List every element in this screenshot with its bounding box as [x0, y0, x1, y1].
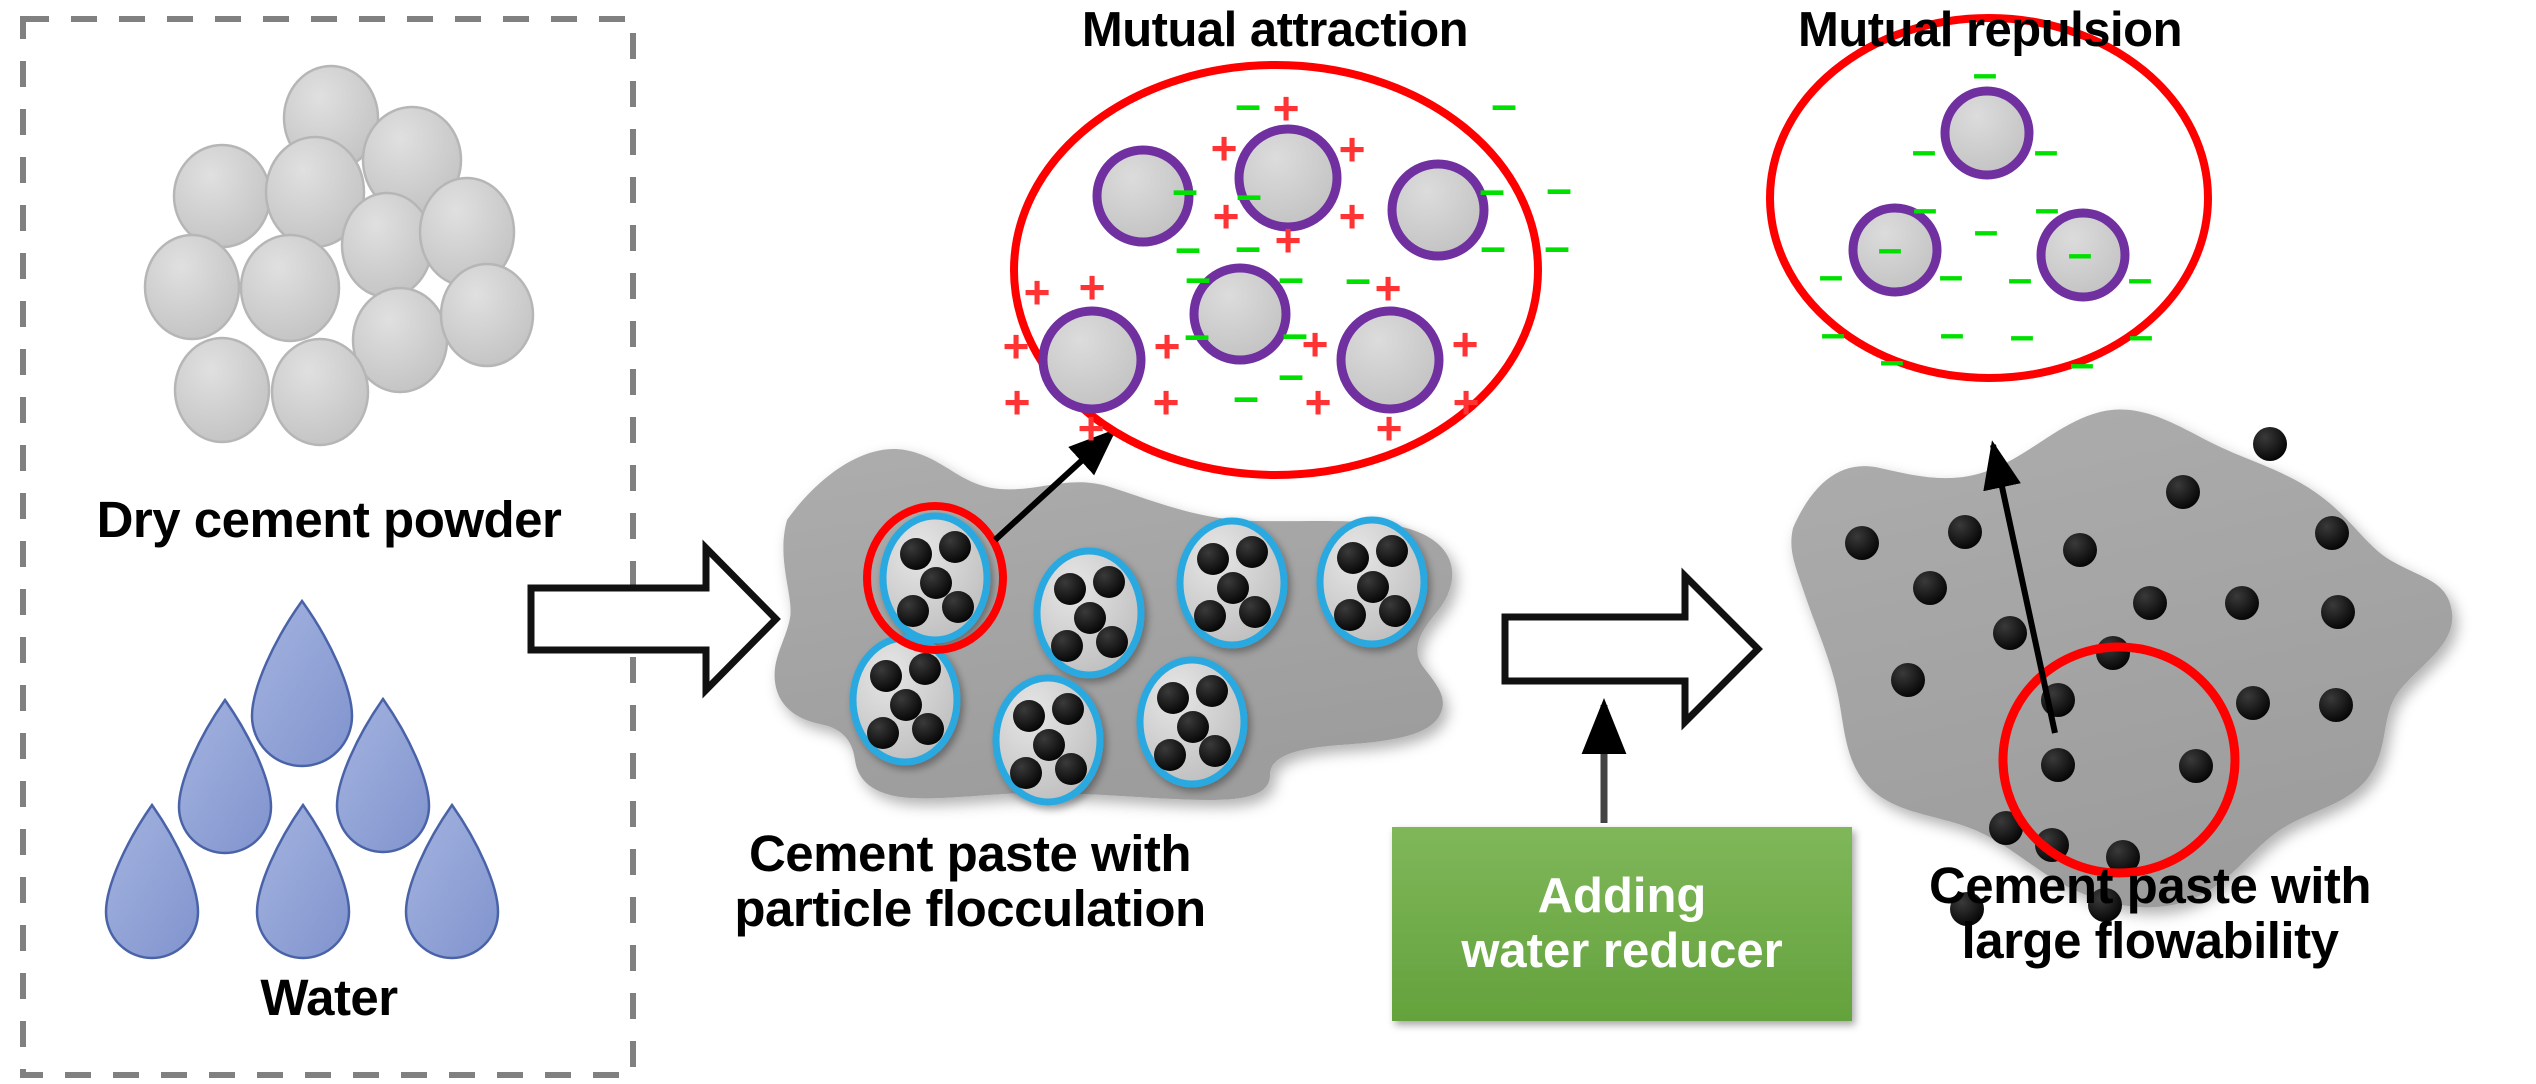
- svg-text:+: +: [1376, 402, 1403, 454]
- svg-text:+: +: [1211, 122, 1238, 174]
- svg-text:–: –: [2068, 229, 2092, 278]
- svg-text:–: –: [1880, 336, 1904, 385]
- svg-text:–: –: [1479, 163, 1505, 215]
- svg-text:+: +: [1003, 320, 1030, 372]
- water-label: Water: [24, 970, 634, 1025]
- svg-text:–: –: [2035, 184, 2059, 233]
- svg-text:–: –: [1491, 78, 1517, 130]
- svg-text:+: +: [1302, 318, 1329, 370]
- svg-text:–: –: [1185, 251, 1211, 303]
- paste-flocculation-caption-line1: Cement paste with: [700, 826, 1240, 881]
- paste-flowability-caption-line1: Cement paste with: [1880, 858, 2420, 913]
- svg-text:–: –: [1939, 251, 1963, 300]
- svg-text:+: +: [1154, 320, 1181, 372]
- svg-text:–: –: [2010, 311, 2034, 360]
- svg-text:–: –: [2070, 339, 2094, 388]
- paste-flocculation-caption-line2: particle flocculation: [700, 881, 1240, 936]
- svg-text:+: +: [1375, 262, 1402, 314]
- svg-text:–: –: [1913, 184, 1937, 233]
- svg-text:–: –: [1819, 251, 1843, 300]
- svg-text:–: –: [2128, 254, 2152, 303]
- svg-text:–: –: [1974, 206, 1998, 255]
- svg-text:–: –: [1912, 126, 1936, 175]
- water-reducer-line1: Adding: [1392, 869, 1852, 924]
- svg-text:–: –: [1184, 308, 1210, 360]
- svg-text:–: –: [1546, 162, 1572, 214]
- svg-text:+: +: [1079, 261, 1106, 313]
- svg-text:–: –: [1821, 309, 1845, 358]
- paste-flowability-caption: Cement paste with large flowability: [1880, 858, 2420, 968]
- svg-text:+: +: [1339, 190, 1366, 242]
- dry-cement-powder-label: Dry cement powder: [24, 492, 634, 547]
- svg-text:–: –: [1878, 224, 1902, 273]
- attraction-title: Mutual attraction: [1020, 4, 1530, 57]
- paste-flocculation-caption: Cement paste with particle flocculation: [700, 826, 1240, 936]
- svg-text:–: –: [1940, 309, 1964, 358]
- svg-text:–: –: [1278, 348, 1304, 400]
- svg-text:+: +: [1452, 318, 1479, 370]
- svg-text:+: +: [1273, 82, 1300, 134]
- svg-text:–: –: [1345, 252, 1371, 304]
- svg-text:–: –: [2008, 254, 2032, 303]
- svg-text:+: +: [1305, 376, 1332, 428]
- svg-text:–: –: [1544, 220, 1570, 272]
- block-arrow-1: [531, 548, 776, 690]
- svg-text:+: +: [1024, 266, 1051, 318]
- paste-flowability-caption-line2: large flowability: [1880, 913, 2420, 968]
- svg-text:+: +: [1004, 376, 1031, 428]
- water-droplet-group: [106, 601, 498, 958]
- block-arrow-2: [1505, 576, 1758, 722]
- svg-text:+: +: [1339, 123, 1366, 175]
- svg-text:–: –: [1236, 168, 1262, 220]
- repulsion-title: Mutual repulsion: [1760, 4, 2220, 57]
- svg-text:–: –: [1172, 163, 1198, 215]
- svg-text:+: +: [1153, 376, 1180, 428]
- svg-text:–: –: [2034, 126, 2058, 175]
- svg-text:+: +: [1453, 376, 1480, 428]
- cement-grain-cluster: [145, 66, 533, 445]
- svg-text:+: +: [1078, 402, 1105, 454]
- svg-text:–: –: [1480, 220, 1506, 272]
- svg-text:–: –: [2129, 311, 2153, 360]
- water-reducer-line2: water reducer: [1392, 924, 1852, 979]
- water-reducer-box-text[interactable]: Adding water reducer: [1392, 827, 1852, 1021]
- svg-text:+: +: [1213, 190, 1240, 242]
- diagram-canvas: –– –– –– –– –– –– –– –– – ++ ++ ++ ++ ++…: [0, 0, 2536, 1084]
- svg-text:+: +: [1275, 214, 1302, 266]
- svg-text:–: –: [1235, 78, 1261, 130]
- svg-text:–: –: [1233, 370, 1259, 422]
